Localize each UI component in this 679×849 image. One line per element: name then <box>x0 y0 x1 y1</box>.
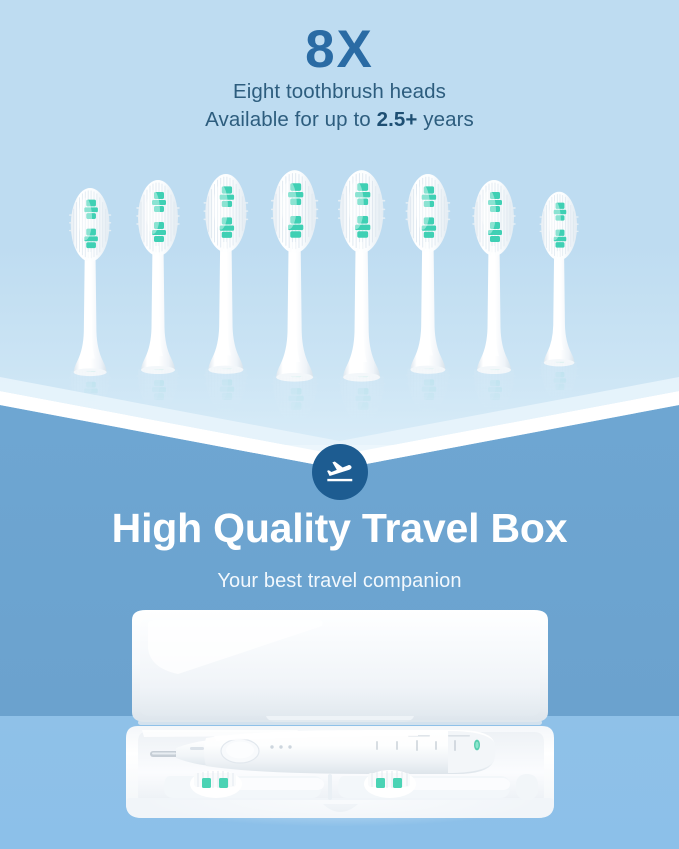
airplane-takeoff-icon <box>324 456 356 488</box>
case-lid <box>132 610 548 722</box>
spare-2-bristles <box>368 771 410 788</box>
travel-title: High Quality Travel Box <box>0 505 679 552</box>
travel-case-open-illustration <box>118 608 562 823</box>
airplane-badge <box>312 444 368 500</box>
travel-subtitle: Your best travel companion <box>0 570 679 593</box>
product-infographic: 8X Eight toothbrush heads Available for … <box>0 0 679 849</box>
travel-case-photo <box>118 608 562 823</box>
travel-section-content: High Quality Travel Box Your best travel… <box>0 0 679 849</box>
spare-1-bristles <box>194 771 236 788</box>
